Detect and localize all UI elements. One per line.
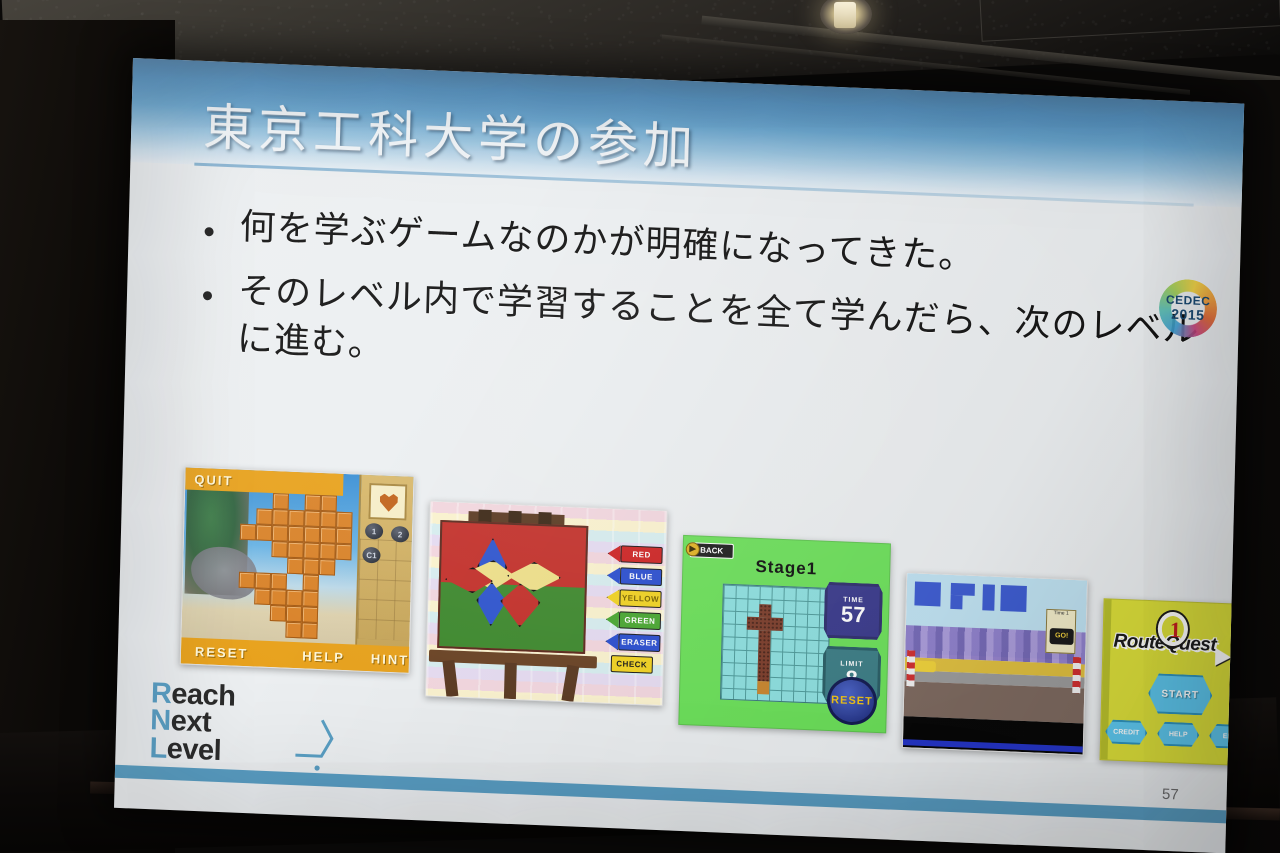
eraser-button[interactable]: ERASER	[618, 633, 660, 652]
puzzle-block[interactable]	[288, 510, 304, 527]
puzzle-block[interactable]	[287, 558, 303, 575]
bullet-dot-icon	[205, 227, 214, 236]
puzzle-block[interactable]	[301, 622, 317, 639]
puzzle-block[interactable]	[304, 526, 320, 543]
puzzle-block[interactable]	[256, 508, 272, 525]
reset-button[interactable]: RESET	[195, 643, 249, 660]
puzzle-block[interactable]	[305, 494, 321, 511]
block-shape	[951, 583, 975, 596]
help-button[interactable]: HELP	[302, 648, 345, 665]
thumbnail-side-scroll-racer: Time 1 GO!	[902, 572, 1088, 755]
puzzle-block[interactable]	[272, 525, 288, 542]
puzzle-block[interactable]	[319, 559, 335, 576]
reach-next-level-logo: Reach Next Level	[149, 680, 236, 767]
logo-cap-l: L	[149, 732, 167, 765]
red-button[interactable]: RED	[620, 545, 662, 564]
puzzle-block[interactable]	[270, 589, 286, 606]
bullet-text: そのレベル内で学習することを全て学んだら、次のレベルに進む。	[236, 267, 1213, 403]
block-shape	[1000, 585, 1027, 612]
page-number: 57	[1162, 786, 1179, 804]
bullet-dot-icon	[203, 291, 212, 300]
checkpoint-flag	[1072, 657, 1081, 693]
knob-1[interactable]: 1	[365, 523, 383, 540]
checkpoint-flag	[906, 650, 915, 686]
heart-icon	[380, 493, 398, 512]
stage-title: Stage1	[683, 554, 889, 582]
puzzle-block[interactable]	[335, 544, 351, 561]
logo-swoosh-icon	[293, 717, 338, 775]
time-value: 57	[841, 603, 866, 626]
logo-arrow-icon	[1215, 648, 1231, 667]
grid-brick	[757, 630, 770, 681]
puzzle-block[interactable]	[254, 588, 270, 605]
thumbnail-stage-grid-game: BACK ▶ Stage1 TIME 57 LIMIT	[678, 535, 891, 733]
projection-screen: 東京工科大学の参加 CEDEC 2015 何を学ぶゲームなのかが明確になってきた…	[114, 58, 1244, 853]
puzzle-block[interactable]	[288, 526, 304, 543]
puzzle-block[interactable]	[255, 572, 271, 589]
puzzle-block[interactable]	[287, 542, 303, 559]
logo-rest-evel: evel	[166, 733, 221, 767]
preview-box	[368, 483, 407, 521]
logo-one-icon: 1	[1170, 617, 1182, 643]
screenshot-strip: 1 2 C1 QUIT RESET HELP HINT	[179, 460, 1225, 753]
puzzle-block[interactable]	[320, 511, 336, 528]
puzzle-block[interactable]	[321, 495, 337, 512]
list-item: そのレベル内で学習することを全て学んだら、次のレベルに進む。	[201, 265, 1213, 403]
time-panel: TIME 57	[824, 582, 883, 640]
bullet-text: 何を学ぶゲームなのかが明確になってきた。	[239, 203, 976, 281]
puzzle-block[interactable]	[302, 606, 318, 623]
credit-button[interactable]: CREDIT	[1105, 719, 1148, 745]
green-button[interactable]: GREEN	[619, 611, 661, 630]
blue-button[interactable]: BLUE	[620, 567, 662, 586]
go-sign: GO!	[1049, 628, 1073, 645]
cedec-year: 2015	[1171, 307, 1205, 323]
yellow-button[interactable]: YELLOW	[619, 589, 661, 608]
slide: 東京工科大学の参加 CEDEC 2015 何を学ぶゲームなのかが明確になってきた…	[114, 58, 1244, 853]
puzzle-block[interactable]	[286, 606, 302, 623]
bullet-list: 何を学ぶゲームなのかが明確になってきた。 そのレベル内で学習することを全て学んだ…	[201, 201, 1215, 419]
puzzle-block[interactable]	[303, 542, 319, 559]
puzzle-block[interactable]	[336, 528, 352, 545]
puzzle-block[interactable]	[302, 590, 318, 607]
puzzle-block[interactable]	[303, 574, 319, 591]
cedec-text: CEDEC 2015	[1158, 278, 1217, 338]
puzzle-block[interactable]	[320, 527, 336, 544]
hint-button[interactable]: HINT	[371, 651, 410, 668]
quit-button[interactable]: QUIT	[194, 471, 233, 488]
painting-canvas[interactable]	[437, 520, 588, 654]
grid-brick	[759, 604, 771, 617]
puzzle-block[interactable]	[286, 590, 302, 607]
puzzle-block[interactable]	[239, 572, 255, 589]
photo-frame: 東京工科大学の参加 CEDEC 2015 何を学ぶゲームなのかが明確になってきた…	[0, 0, 1280, 853]
puzzle-block[interactable]	[304, 510, 320, 527]
block-shape	[982, 584, 995, 610]
puzzle-block[interactable]	[271, 541, 287, 558]
puzzle-grid[interactable]	[720, 584, 831, 704]
thumbnail-route-quest-title: RouteQuest 1 START CREDIT HELP END	[1100, 598, 1245, 766]
thumbnail-block-puzzle-game: 1 2 C1 QUIT RESET HELP HINT	[180, 466, 415, 673]
puzzle-block[interactable]	[271, 573, 287, 590]
block-shape	[914, 581, 941, 606]
block-shape	[950, 595, 962, 609]
logo-line-3: Level	[149, 735, 234, 766]
check-button[interactable]: CHECK	[611, 655, 653, 674]
puzzle-block[interactable]	[256, 524, 272, 541]
thumbnail-painting-game: REDBLUEYELLOWGREENERASERCHECK	[425, 500, 668, 706]
easel-leg	[504, 663, 517, 699]
help-button[interactable]: HELP	[1157, 721, 1200, 747]
footer-bar	[115, 765, 1227, 824]
puzzle-block[interactable]	[319, 543, 335, 560]
puzzle-blocks	[237, 492, 359, 647]
puzzle-block[interactable]	[240, 524, 256, 541]
downlight-bulb	[834, 2, 856, 28]
puzzle-block[interactable]	[272, 509, 288, 526]
start-button[interactable]: START	[1148, 673, 1213, 716]
puzzle-block[interactable]	[273, 493, 289, 510]
grid-goal	[757, 681, 769, 694]
grid-brick	[747, 617, 783, 631]
puzzle-block[interactable]	[303, 558, 319, 575]
puzzle-block[interactable]	[270, 605, 286, 622]
puzzle-block[interactable]	[285, 622, 301, 639]
puzzle-block[interactable]	[336, 512, 352, 529]
cedec-logo-icon: CEDEC 2015	[1158, 278, 1217, 338]
